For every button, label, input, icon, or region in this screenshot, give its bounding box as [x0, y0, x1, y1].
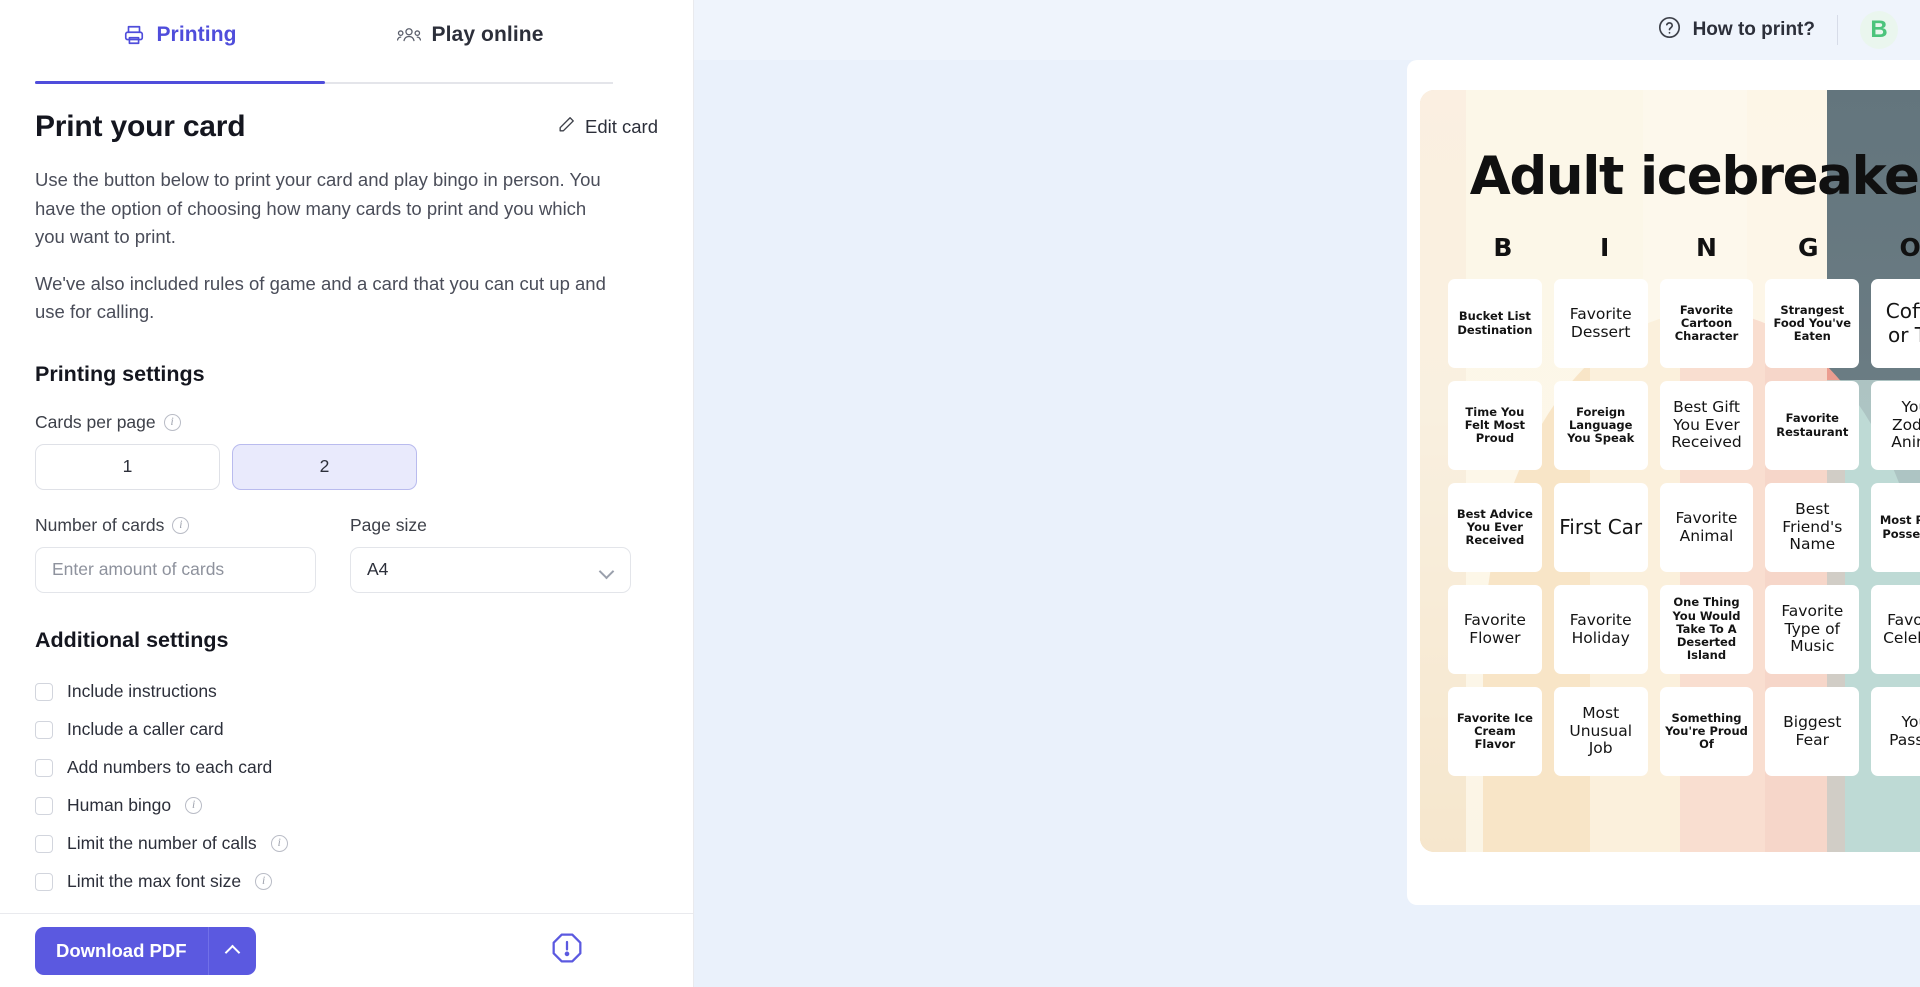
cards-per-page-option-2[interactable]: 2 [232, 444, 417, 490]
additional-settings-list: Include instructions Include a caller ca… [35, 673, 658, 901]
preview-panel: How to print? B Adult icebreaker [694, 0, 1920, 987]
how-to-print-label: How to print? [1693, 19, 1815, 41]
bingo-letters-row: B I N G O [1446, 233, 1920, 262]
bingo-cell[interactable]: Time You Felt Most Proud [1448, 381, 1542, 470]
bingo-letter: I [1554, 233, 1656, 262]
panel-footer: Download PDF [0, 913, 693, 987]
chevron-up-icon [224, 945, 240, 961]
cards-per-page-segmented: 1 2 [35, 444, 658, 490]
info-icon[interactable]: i [271, 835, 288, 852]
page-title: Print your card [35, 110, 245, 144]
bingo-letter: B [1452, 233, 1554, 262]
edit-card-label: Edit card [585, 116, 658, 138]
bingo-cell[interactable]: Best Advice You Ever Received [1448, 483, 1542, 572]
bingo-cell[interactable]: Most Prized Possession [1871, 483, 1920, 572]
checkbox-label: Include instructions [67, 681, 217, 702]
card-title: Adult icebreaker [1446, 150, 1920, 203]
bingo-cell[interactable]: Your Zodiac Animal [1871, 381, 1920, 470]
checkbox-include-caller-card[interactable]: Include a caller card [35, 711, 658, 749]
checkbox-label: Include a caller card [67, 719, 224, 740]
checkbox-limit-max-font-size[interactable]: Limit the max font size i [35, 863, 658, 901]
bingo-cell[interactable]: Something You're Proud Of [1660, 687, 1754, 776]
cards-and-page-size-row: Number of cards i Page size A4 [35, 490, 658, 593]
number-of-cards-label: Number of cards [35, 515, 164, 536]
bingo-cell[interactable]: Favorite Celebrity [1871, 585, 1920, 674]
bingo-cell[interactable]: One Thing You Would Take To A Deserted I… [1660, 585, 1754, 674]
bingo-cell[interactable]: Favorite Animal [1660, 483, 1754, 572]
panel-header: Print your card Edit card [35, 110, 658, 144]
checkbox-label: Limit the max font size [67, 871, 241, 892]
bingo-cell[interactable]: Favorite Type of Music [1765, 585, 1859, 674]
checkbox-label: Add numbers to each card [67, 757, 272, 778]
bingo-cards-container: Adult icebreaker B I N G O Bucket List D… [1420, 90, 1920, 850]
download-pdf-button[interactable]: Download PDF [35, 927, 208, 975]
bingo-cell[interactable]: Foreign Language You Speak [1554, 381, 1648, 470]
tab-printing-label: Printing [156, 23, 236, 47]
cards-per-page-option-1[interactable]: 1 [35, 444, 220, 490]
bingo-cell[interactable]: Most Unusual Job [1554, 687, 1648, 776]
bingo-cell[interactable]: Biggest Fear [1765, 687, 1859, 776]
bingo-letter: G [1757, 233, 1859, 262]
bingo-cell[interactable]: Favorite Restaurant [1765, 381, 1859, 470]
number-of-cards-group: Number of cards i [35, 490, 316, 593]
cards-per-page-label-row: Cards per page i [35, 412, 658, 433]
tab-bar: Printing Play online [0, 0, 693, 84]
top-bar-divider [1837, 15, 1838, 45]
download-pdf-dropdown-toggle[interactable] [208, 927, 256, 975]
settings-panel: Printing Play online Print your card [0, 0, 694, 987]
tab-printing[interactable]: Printing [35, 0, 325, 84]
checkbox-box[interactable] [35, 797, 53, 815]
checkbox-box[interactable] [35, 759, 53, 777]
number-of-cards-label-row: Number of cards i [35, 515, 316, 536]
checkbox-box[interactable] [35, 873, 53, 891]
page-size-label: Page size [350, 515, 427, 536]
checkbox-box[interactable] [35, 683, 53, 701]
printer-icon [123, 24, 145, 46]
page-size-group: Page size A4 [350, 490, 631, 593]
page-size-select[interactable]: A4 [350, 547, 631, 593]
intro-text: Use the button below to print your card … [35, 166, 658, 327]
download-pdf-group: Download PDF [35, 927, 256, 975]
card-content: Adult icebreaker B I N G O Bucket List D… [1420, 90, 1920, 852]
bingo-cell[interactable]: First Car [1554, 483, 1648, 572]
alert-octagon-icon[interactable] [551, 932, 583, 969]
intro-paragraph-1: Use the button below to print your card … [35, 166, 610, 252]
bingo-cell[interactable]: Bucket List Destination [1448, 279, 1542, 368]
info-icon[interactable]: i [185, 797, 202, 814]
checkbox-box[interactable] [35, 721, 53, 739]
edit-card-button[interactable]: Edit card [557, 115, 658, 139]
how-to-print-button[interactable]: How to print? [1657, 15, 1815, 45]
people-icon [397, 24, 421, 46]
bingo-letter: N [1656, 233, 1758, 262]
page-size-value: A4 [367, 559, 388, 580]
bingo-letter: O [1859, 233, 1920, 262]
bingo-cell[interactable]: Strangest Food You've Eaten [1765, 279, 1859, 368]
panel-body: Print your card Edit card Use the button… [0, 84, 693, 913]
page-size-label-row: Page size [350, 515, 631, 536]
question-circle-icon [1657, 15, 1682, 45]
tab-play-online-label: Play online [432, 23, 544, 47]
checkbox-limit-number-of-calls[interactable]: Limit the number of calls i [35, 825, 658, 863]
pencil-icon [557, 115, 576, 139]
avatar[interactable]: B [1860, 11, 1898, 49]
number-of-cards-input[interactable] [35, 547, 316, 593]
checkbox-human-bingo[interactable]: Human bingo i [35, 787, 658, 825]
bingo-card-1[interactable]: Adult icebreaker B I N G O Bucket List D… [1420, 90, 1920, 852]
bingo-cell[interactable]: Favorite Flower [1448, 585, 1542, 674]
app-root: Printing Play online Print your card [0, 0, 1920, 987]
bingo-cell[interactable]: Favorite Holiday [1554, 585, 1648, 674]
checkbox-label: Human bingo [67, 795, 171, 816]
bingo-cell[interactable]: Favorite Dessert [1554, 279, 1648, 368]
additional-settings-heading: Additional settings [35, 628, 658, 653]
bingo-grid: Bucket List Destination Favorite Dessert… [1446, 279, 1920, 776]
bingo-cell[interactable]: Best Friend's Name [1765, 483, 1859, 572]
info-icon[interactable]: i [172, 517, 189, 534]
bingo-cell[interactable]: Coffee or Tea [1871, 279, 1920, 368]
checkbox-box[interactable] [35, 835, 53, 853]
checkbox-label: Limit the number of calls [67, 833, 257, 854]
bingo-cell[interactable]: Best Gift You Ever Received [1660, 381, 1754, 470]
bingo-cell[interactable]: Favorite Cartoon Character [1660, 279, 1754, 368]
info-icon[interactable]: i [164, 414, 181, 431]
printing-settings-heading: Printing settings [35, 362, 658, 387]
checkbox-include-instructions[interactable]: Include instructions [35, 673, 658, 711]
intro-paragraph-2: We've also included rules of game and a … [35, 270, 610, 327]
info-icon[interactable]: i [255, 873, 272, 890]
bingo-cell[interactable]: Your Passion [1871, 687, 1920, 776]
tab-play-online[interactable]: Play online [325, 0, 615, 84]
checkbox-add-numbers[interactable]: Add numbers to each card [35, 749, 658, 787]
cards-per-page-label: Cards per page [35, 412, 156, 433]
bingo-cell[interactable]: Favorite Ice Cream Flavor [1448, 687, 1542, 776]
chevron-down-icon [601, 566, 614, 574]
preview-top-bar: How to print? B [694, 0, 1920, 60]
